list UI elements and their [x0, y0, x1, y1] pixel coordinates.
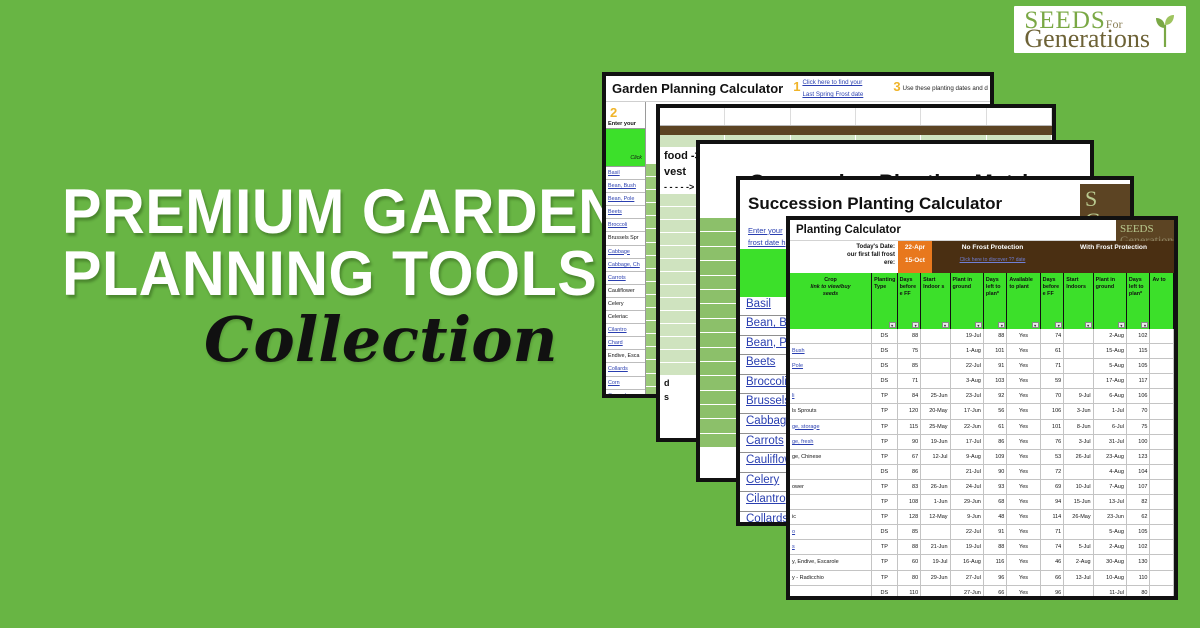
available-cell: Yes [1007, 344, 1040, 358]
headline-line-2: PLANNING TOOLS [62, 244, 588, 306]
days-left2-cell: 102 [1127, 540, 1151, 554]
sheet1-crop-item[interactable]: Collards [606, 363, 645, 376]
planting-type-cell: TP [872, 480, 898, 494]
start-indoors-cell [921, 465, 950, 479]
step-1-link[interactable]: Click here to find your Last Spring Fros… [802, 76, 863, 101]
sheet2-dark-band [660, 126, 1052, 135]
table-row: oDS8522-Jul91Yes715-Aug105 [790, 525, 1174, 540]
filter-icon[interactable]: ▾ [1032, 322, 1039, 328]
days-left-cell: 90 [984, 465, 1008, 479]
days-left2-cell: 82 [1127, 495, 1151, 509]
crop-cell: ower [790, 480, 872, 494]
days-left-cell: 91 [984, 359, 1008, 373]
days-before-ff-cell: 110 [898, 586, 922, 600]
start-indoors2-cell: 26-Jul [1064, 450, 1093, 464]
headline-script: Collection [204, 307, 622, 372]
start-indoors2-cell: 3-Jun [1064, 404, 1093, 418]
available-cell: Yes [1007, 495, 1040, 509]
available2-cell [1150, 540, 1174, 554]
col-crop-l1: Crop [792, 277, 869, 284]
table-row: owerTP8326-Jun24-Jul93Yes6910-Jul7-Aug10… [790, 480, 1174, 495]
days-before-ff-cell: 75 [898, 344, 922, 358]
available-cell: Yes [1007, 374, 1040, 388]
plant-in-ground2-cell: 6-Aug [1094, 389, 1127, 403]
col-available-to-plant: Available to plant▾ [1007, 273, 1040, 329]
planting-type-cell: DS [872, 586, 898, 600]
filter-icon[interactable]: ▾ [1118, 322, 1125, 328]
crop-cell[interactable]: li [790, 389, 872, 403]
sheet1-crop-item[interactable]: Corn [606, 377, 645, 390]
crop-cell[interactable]: ge, fresh [790, 435, 872, 449]
days-before-ff2-cell: 101 [1041, 420, 1065, 434]
col-days-before-ff-2: Days before e FF▾ [1041, 273, 1065, 329]
available-cell: Yes [1007, 540, 1040, 554]
plant-in-ground2-cell: 13-Jul [1094, 495, 1127, 509]
plant-in-ground2-cell: 31-Jul [1094, 435, 1127, 449]
plant-in-ground-cell: 22-Jul [951, 525, 984, 539]
filter-icon[interactable]: ▾ [975, 322, 982, 328]
planting-type-cell: DS [872, 465, 898, 479]
planting-type-cell: DS [872, 359, 898, 373]
plant-in-ground-cell: 9-Aug [951, 450, 984, 464]
available-cell: Yes [1007, 510, 1040, 524]
col-plant-in-ground: Plant in ground▾ [951, 273, 984, 329]
plant-in-ground2-cell: 23-Jun [1094, 510, 1127, 524]
sheet1-crop-item: Brussels Spr [606, 232, 645, 245]
days-before-ff-cell: 84 [898, 389, 922, 403]
days-left-cell: 68 [984, 495, 1008, 509]
date-values[interactable]: 22-Apr 15-Oct [898, 241, 932, 273]
days-before-ff2-cell: 66 [1041, 571, 1065, 585]
filter-icon[interactable]: ▾ [998, 322, 1005, 328]
crop-cell [790, 586, 872, 600]
start-indoors2-cell: 26-May [1064, 510, 1093, 524]
group-no-frost-protection: No Frost Protection Click here to discov… [932, 241, 1053, 273]
days-before-ff-cell: 88 [898, 540, 922, 554]
planting-type-cell: TP [872, 571, 898, 585]
table-row: PoleDS8522-Jul91Yes715-Aug105 [790, 359, 1174, 374]
days-left2-cell: 70 [1127, 404, 1151, 418]
table-row: sTP8821-Jun19-Jul88Yes745-Jul2-Aug102 [790, 540, 1174, 555]
frost-date-link[interactable]: Click here to discover ?? date [932, 251, 1053, 263]
table-row: ls SproutsTP12020-May17-Jun56Yes1063-Jun… [790, 404, 1174, 419]
step-1-link-line1[interactable]: Click here to find your [802, 76, 863, 88]
days-before-ff-cell: 108 [898, 495, 922, 509]
days-left-cell: 56 [984, 404, 1008, 418]
table-row: ge, freshTP9019-Jun17-Jul86Yes763-Jul31-… [790, 435, 1174, 450]
plant-in-ground-cell: 17-Jul [951, 435, 984, 449]
available2-cell [1150, 510, 1174, 524]
group-with-frost-protection: With Frost Protection [1053, 241, 1174, 273]
days-left-cell: 103 [984, 374, 1008, 388]
days-before-ff-cell: 60 [898, 555, 922, 569]
sheet1-crop-item[interactable]: Chard [606, 337, 645, 350]
sheet1-crop-item[interactable]: Broccoli [606, 219, 645, 232]
filter-icon[interactable]: ▾ [942, 322, 949, 328]
days-before-ff-cell: 67 [898, 450, 922, 464]
days-before-ff2-cell: 76 [1041, 435, 1065, 449]
days-before-ff-cell: 80 [898, 571, 922, 585]
plant-in-ground-cell: 22-Jul [951, 359, 984, 373]
available2-cell [1150, 435, 1174, 449]
available2-cell [1150, 359, 1174, 373]
available-cell: Yes [1007, 465, 1040, 479]
start-indoors-cell: 12-May [921, 510, 950, 524]
available-cell: Yes [1007, 586, 1040, 600]
available2-cell [1150, 465, 1174, 479]
start-indoors-cell: 21-Jun [921, 540, 950, 554]
sheet1-crop-item[interactable]: Cucumber [606, 390, 645, 398]
crop-cell [790, 495, 872, 509]
plant-in-ground2-cell: 11-Jul [1094, 586, 1127, 600]
sheet2-header-row [660, 108, 1052, 126]
days-before-ff2-cell: 61 [1041, 344, 1065, 358]
available-cell: Yes [1007, 555, 1040, 569]
step-2-number: 2 [606, 102, 645, 120]
start-indoors-cell [921, 329, 950, 343]
days-before-ff2-cell: 74 [1041, 329, 1065, 343]
sheet1-crop-item[interactable]: Cabbage, Ch [606, 259, 645, 272]
available2-cell [1150, 586, 1174, 600]
start-indoors2-cell [1064, 586, 1093, 600]
available-cell: Yes [1007, 359, 1040, 373]
days-left-cell: 61 [984, 420, 1008, 434]
crop-cell: y, Endive, Escarole [790, 555, 872, 569]
planting-type-cell: DS [872, 344, 898, 358]
days-left2-cell: 102 [1127, 329, 1151, 343]
planting-calculator-rows: DS8819-Jul88Yes742-Aug102BushDS751-Aug10… [790, 329, 1174, 600]
step-3-number: 3 [889, 76, 902, 101]
table-row: icTP12812-May9-Jun48Yes11426-May23-Jun62 [790, 510, 1174, 525]
start-indoors-cell [921, 586, 950, 600]
available2-cell [1150, 374, 1174, 388]
plant-in-ground2-cell: 5-Aug [1094, 359, 1127, 373]
col-days-left: Days left to plan*▾ [984, 273, 1008, 329]
plant-in-ground2-cell: 2-Aug [1094, 329, 1127, 343]
days-before-ff2-cell: 53 [1041, 450, 1065, 464]
days-left2-cell: 104 [1127, 465, 1151, 479]
table-row: ge, ChineseTP6712-Jul9-Aug109Yes5326-Jul… [790, 450, 1174, 465]
days-before-ff2-cell: 70 [1041, 389, 1065, 403]
crop-cell[interactable]: s [790, 540, 872, 554]
planting-type-cell: DS [872, 329, 898, 343]
days-before-ff-cell: 115 [898, 420, 922, 434]
sheet1-crop-item: Cauliflower [606, 285, 645, 298]
planting-type-cell: TP [872, 555, 898, 569]
available2-cell [1150, 480, 1174, 494]
plant-in-ground-cell: 23-Jul [951, 389, 984, 403]
plant-in-ground-cell: 21-Jul [951, 465, 984, 479]
col-crop-l2: link to view/buy [810, 284, 850, 290]
sheet1-header-row: Garden Planning Calculator 1 Click here … [606, 76, 990, 102]
spreadsheet-stack: Garden Planning Calculator 1 Click here … [590, 60, 1190, 560]
plant-in-ground2-cell: 15-Aug [1094, 344, 1127, 358]
days-left2-cell: 105 [1127, 359, 1151, 373]
start-indoors-cell: 1-Jun [921, 495, 950, 509]
days-before-ff2-cell: 69 [1041, 480, 1065, 494]
sheet1-crop-item[interactable]: Beets [606, 206, 645, 219]
table-row: BushDS751-Aug101Yes6115-Aug115 [790, 344, 1174, 359]
start-indoors2-cell: 9-Jul [1064, 389, 1093, 403]
col-crop: Crop link to view/buy seeds [790, 273, 872, 329]
days-left-cell: 66 [984, 586, 1008, 600]
available-cell: Yes [1007, 571, 1040, 585]
sheet1-title: Garden Planning Calculator [606, 76, 789, 101]
available2-cell [1150, 495, 1174, 509]
filter-icon[interactable]: ▾ [1085, 322, 1092, 328]
available-cell: Yes [1007, 404, 1040, 418]
filter-icon[interactable]: ▾ [1055, 322, 1062, 328]
sheet-planting-calculator[interactable]: SEEDS Generations Planting Calculator To… [786, 216, 1178, 600]
sheet1-crop-item[interactable]: Basil [606, 167, 645, 180]
plant-in-ground2-cell: 6-Jul [1094, 420, 1127, 434]
days-before-ff-cell: 88 [898, 329, 922, 343]
start-indoors2-cell [1064, 344, 1093, 358]
plant-in-ground2-cell: 4-Aug [1094, 465, 1127, 479]
days-before-ff2-cell: 46 [1041, 555, 1065, 569]
sheet1-crop-item: Celeriac [606, 311, 645, 324]
days-before-ff2-cell: 94 [1041, 495, 1065, 509]
headline-block: PREMIUM GARDEN PLANNING TOOLS Collection [62, 182, 622, 373]
available2-cell [1150, 450, 1174, 464]
table-row: DS8819-Jul88Yes742-Aug102 [790, 329, 1174, 344]
available-cell: Yes [1007, 480, 1040, 494]
sheet1-crop-item[interactable]: Carrots [606, 272, 645, 285]
days-before-ff2-cell: 71 [1041, 525, 1065, 539]
days-left2-cell: 106 [1127, 389, 1151, 403]
days-before-ff2-cell: 71 [1041, 359, 1065, 373]
days-left2-cell: 123 [1127, 450, 1151, 464]
col-days-left-2: Days left to plan*▾ [1127, 273, 1151, 329]
start-indoors2-cell: 8-Jun [1064, 420, 1093, 434]
planting-type-cell: TP [872, 450, 898, 464]
start-indoors-cell [921, 374, 950, 388]
planting-type-cell: DS [872, 374, 898, 388]
col-plant-in-ground-2: Plant in ground▾ [1094, 273, 1127, 329]
plant-in-ground2-cell: 7-Aug [1094, 480, 1127, 494]
planting-type-cell: TP [872, 404, 898, 418]
days-left2-cell: 75 [1127, 420, 1151, 434]
fall-frost-label-2: ere: [790, 259, 895, 267]
available2-cell [1150, 344, 1174, 358]
days-before-ff2-cell: 59 [1041, 374, 1065, 388]
available2-cell [1150, 404, 1174, 418]
crop-cell[interactable] [790, 465, 872, 479]
days-left-cell: 93 [984, 480, 1008, 494]
available2-cell [1150, 571, 1174, 585]
days-before-ff2-cell: 106 [1041, 404, 1065, 418]
plant-in-ground-cell: 3-Aug [951, 374, 984, 388]
start-indoors-cell: 19-Jun [921, 435, 950, 449]
start-indoors-cell: 25-May [921, 420, 950, 434]
no-frost-protection-label: No Frost Protection [932, 241, 1053, 251]
start-indoors2-cell: 15-Jun [1064, 495, 1093, 509]
days-left-cell: 48 [984, 510, 1008, 524]
days-left-cell: 116 [984, 555, 1008, 569]
plant-in-ground2-cell: 23-Aug [1094, 450, 1127, 464]
filter-icon[interactable]: ▾ [912, 322, 919, 328]
days-left2-cell: 62 [1127, 510, 1151, 524]
start-indoors-cell: 25-Jun [921, 389, 950, 403]
sheet1-crop-item[interactable]: Cabbage [606, 246, 645, 259]
days-before-ff2-cell: 74 [1041, 540, 1065, 554]
available-cell: Yes [1007, 525, 1040, 539]
planting-type-cell: TP [872, 389, 898, 403]
start-indoors2-cell [1064, 374, 1093, 388]
planting-type-cell: DS [872, 525, 898, 539]
table-row: liTP8425-Jun23-Jul92Yes709-Jul6-Aug106 [790, 389, 1174, 404]
start-indoors2-cell: 5-Jul [1064, 540, 1093, 554]
crop-cell[interactable]: o [790, 525, 872, 539]
available-cell: Yes [1007, 389, 1040, 403]
plant-in-ground2-cell: 5-Aug [1094, 525, 1127, 539]
available2-cell [1150, 389, 1174, 403]
col-available-2: Av to [1150, 273, 1174, 329]
click-cell[interactable]: Click [606, 129, 645, 167]
plant-in-ground-cell: 19-Jul [951, 329, 984, 343]
todays-date-label: Today's Date: [790, 243, 895, 251]
days-before-ff-cell: 85 [898, 359, 922, 373]
plant-in-ground2-cell: 17-Aug [1094, 374, 1127, 388]
available2-cell [1150, 555, 1174, 569]
planting-type-cell: TP [872, 510, 898, 524]
available2-cell [1150, 420, 1174, 434]
days-left2-cell: 107 [1127, 480, 1151, 494]
start-indoors2-cell [1064, 329, 1093, 343]
plant-in-ground-cell: 22-Jun [951, 420, 984, 434]
crop-cell[interactable] [790, 329, 872, 343]
table-row: TP1081-Jun29-Jun68Yes9415-Jun13-Jul82 [790, 495, 1174, 510]
sheet1-crop-item[interactable]: Cilantro [606, 324, 645, 337]
available2-cell [1150, 525, 1174, 539]
days-before-ff-cell: 71 [898, 374, 922, 388]
days-left2-cell: 80 [1127, 586, 1151, 600]
brand-logo: SEEDSFor Generations [1014, 6, 1186, 53]
days-left-cell: 92 [984, 389, 1008, 403]
planting-type-cell: TP [872, 435, 898, 449]
days-left-cell: 88 [984, 540, 1008, 554]
days-left-cell: 96 [984, 571, 1008, 585]
crop-cell: ge, Chinese [790, 450, 872, 464]
col-crop-l3: seeds [823, 291, 838, 297]
available2-cell [1150, 329, 1174, 343]
start-indoors-cell [921, 344, 950, 358]
table-row: ge, storageTP11525-May22-Jun61Yes1018-Ju… [790, 420, 1174, 435]
sheet1-crop-item: Endive, Esca [606, 350, 645, 363]
available-cell: Yes [1007, 420, 1040, 434]
crop-cell: ic [790, 510, 872, 524]
days-before-ff-cell: 85 [898, 525, 922, 539]
days-left-cell: 91 [984, 525, 1008, 539]
brand-wordmark: SEEDSFor Generations [1024, 10, 1150, 50]
fall-frost-value[interactable]: 15-Oct [898, 254, 932, 267]
crop-cell[interactable]: Bush [790, 344, 872, 358]
planting-type-cell: TP [872, 495, 898, 509]
days-left2-cell: 115 [1127, 344, 1151, 358]
days-left-cell: 86 [984, 435, 1008, 449]
days-left2-cell: 130 [1127, 555, 1151, 569]
available-cell: Yes [1007, 450, 1040, 464]
days-before-ff2-cell: 72 [1041, 465, 1065, 479]
filter-icon[interactable]: ▾ [1141, 322, 1148, 328]
sheet1-crop-item[interactable]: Bean, Bush [606, 180, 645, 193]
plant-in-ground-cell: 19-Jul [951, 540, 984, 554]
plant-in-ground-cell: 29-Jun [951, 495, 984, 509]
crop-cell: ls Sprouts [790, 404, 872, 418]
days-left2-cell: 117 [1127, 374, 1151, 388]
table-row: y - RadicchioTP8029-Jun27-Jul96Yes6613-J… [790, 571, 1174, 586]
start-indoors-cell: 19-Jul [921, 555, 950, 569]
sheet1-crop-item[interactable]: Bean, Pole [606, 193, 645, 206]
table-row: y, Endive, EscaroleTP6019-Jul16-Aug116Ye… [790, 555, 1174, 570]
step-1-number: 1 [789, 76, 802, 101]
sheet1-crop-list: BasilBean, BushBean, PoleBeetsBroccoliBr… [606, 167, 645, 398]
col-start-indoors: Start Indoor s▾ [921, 273, 950, 329]
plant-in-ground-cell: 27-Jul [951, 571, 984, 585]
plant-in-ground-cell: 1-Aug [951, 344, 984, 358]
enter-your-label: Enter your [606, 120, 645, 129]
days-before-ff-cell: 83 [898, 480, 922, 494]
crop-cell[interactable]: ge, storage [790, 420, 872, 434]
days-left-cell: 101 [984, 344, 1008, 358]
sheet1-crop-column: 2 Enter your Click BasilBean, BushBean, … [606, 102, 646, 398]
plant-in-ground2-cell: 2-Aug [1094, 540, 1127, 554]
brand-line-2: Generations [1024, 28, 1150, 50]
col-start-indoors-2: Start Indoors▾ [1064, 273, 1093, 329]
plant-in-ground-cell: 17-Jun [951, 404, 984, 418]
start-indoors-cell: 20-May [921, 404, 950, 418]
days-before-ff-cell: 120 [898, 404, 922, 418]
start-indoors-cell [921, 525, 950, 539]
date-labels: Today's Date: our first fall frost ere: [790, 241, 898, 273]
col-days-before-ff: Days before e FF▾ [898, 273, 922, 329]
plant-in-ground2-cell: 1-Jul [1094, 404, 1127, 418]
todays-date-value[interactable]: 22-Apr [898, 241, 932, 254]
planting-type-cell: TP [872, 540, 898, 554]
days-left-cell: 88 [984, 329, 1008, 343]
planting-calculator-banner: Today's Date: our first fall frost ere: … [790, 241, 1174, 273]
start-indoors2-cell: 2-Aug [1064, 555, 1093, 569]
headline-line-1: PREMIUM GARDEN [62, 182, 588, 244]
days-before-ff-cell: 86 [898, 465, 922, 479]
plant-in-ground-cell: 16-Aug [951, 555, 984, 569]
col-planting-type: Planting Type▾ [872, 273, 898, 329]
start-indoors2-cell: 10-Jul [1064, 480, 1093, 494]
crop-cell[interactable]: Pole [790, 359, 872, 373]
plant-in-ground2-cell: 10-Aug [1094, 571, 1127, 585]
available-cell: Yes [1007, 329, 1040, 343]
table-row: DS8621-Jul90Yes724-Aug104 [790, 465, 1174, 480]
plant-in-ground-cell: 9-Jun [951, 510, 984, 524]
sprout-icon [1154, 13, 1176, 47]
start-indoors-cell: 29-Jun [921, 571, 950, 585]
step-3-text: Use these planting dates and d [903, 76, 988, 101]
filter-icon[interactable]: ▾ [889, 322, 896, 328]
crop-cell [790, 374, 872, 388]
table-row: DS11027-Jun66Yes9611-Jul80 [790, 586, 1174, 600]
days-before-ff-cell: 128 [898, 510, 922, 524]
with-frost-protection-label: With Frost Protection [1053, 241, 1174, 251]
available-cell: Yes [1007, 435, 1040, 449]
sheet1-crop-item: Celery [606, 298, 645, 311]
crop-cell: y - Radicchio [790, 571, 872, 585]
plant-in-ground2-cell: 30-Aug [1094, 555, 1127, 569]
days-before-ff2-cell: 96 [1041, 586, 1065, 600]
days-left2-cell: 100 [1127, 435, 1151, 449]
start-indoors2-cell: 13-Jul [1064, 571, 1093, 585]
days-before-ff-cell: 90 [898, 435, 922, 449]
step-1-link-line2[interactable]: Last Spring Frost date [802, 88, 863, 100]
